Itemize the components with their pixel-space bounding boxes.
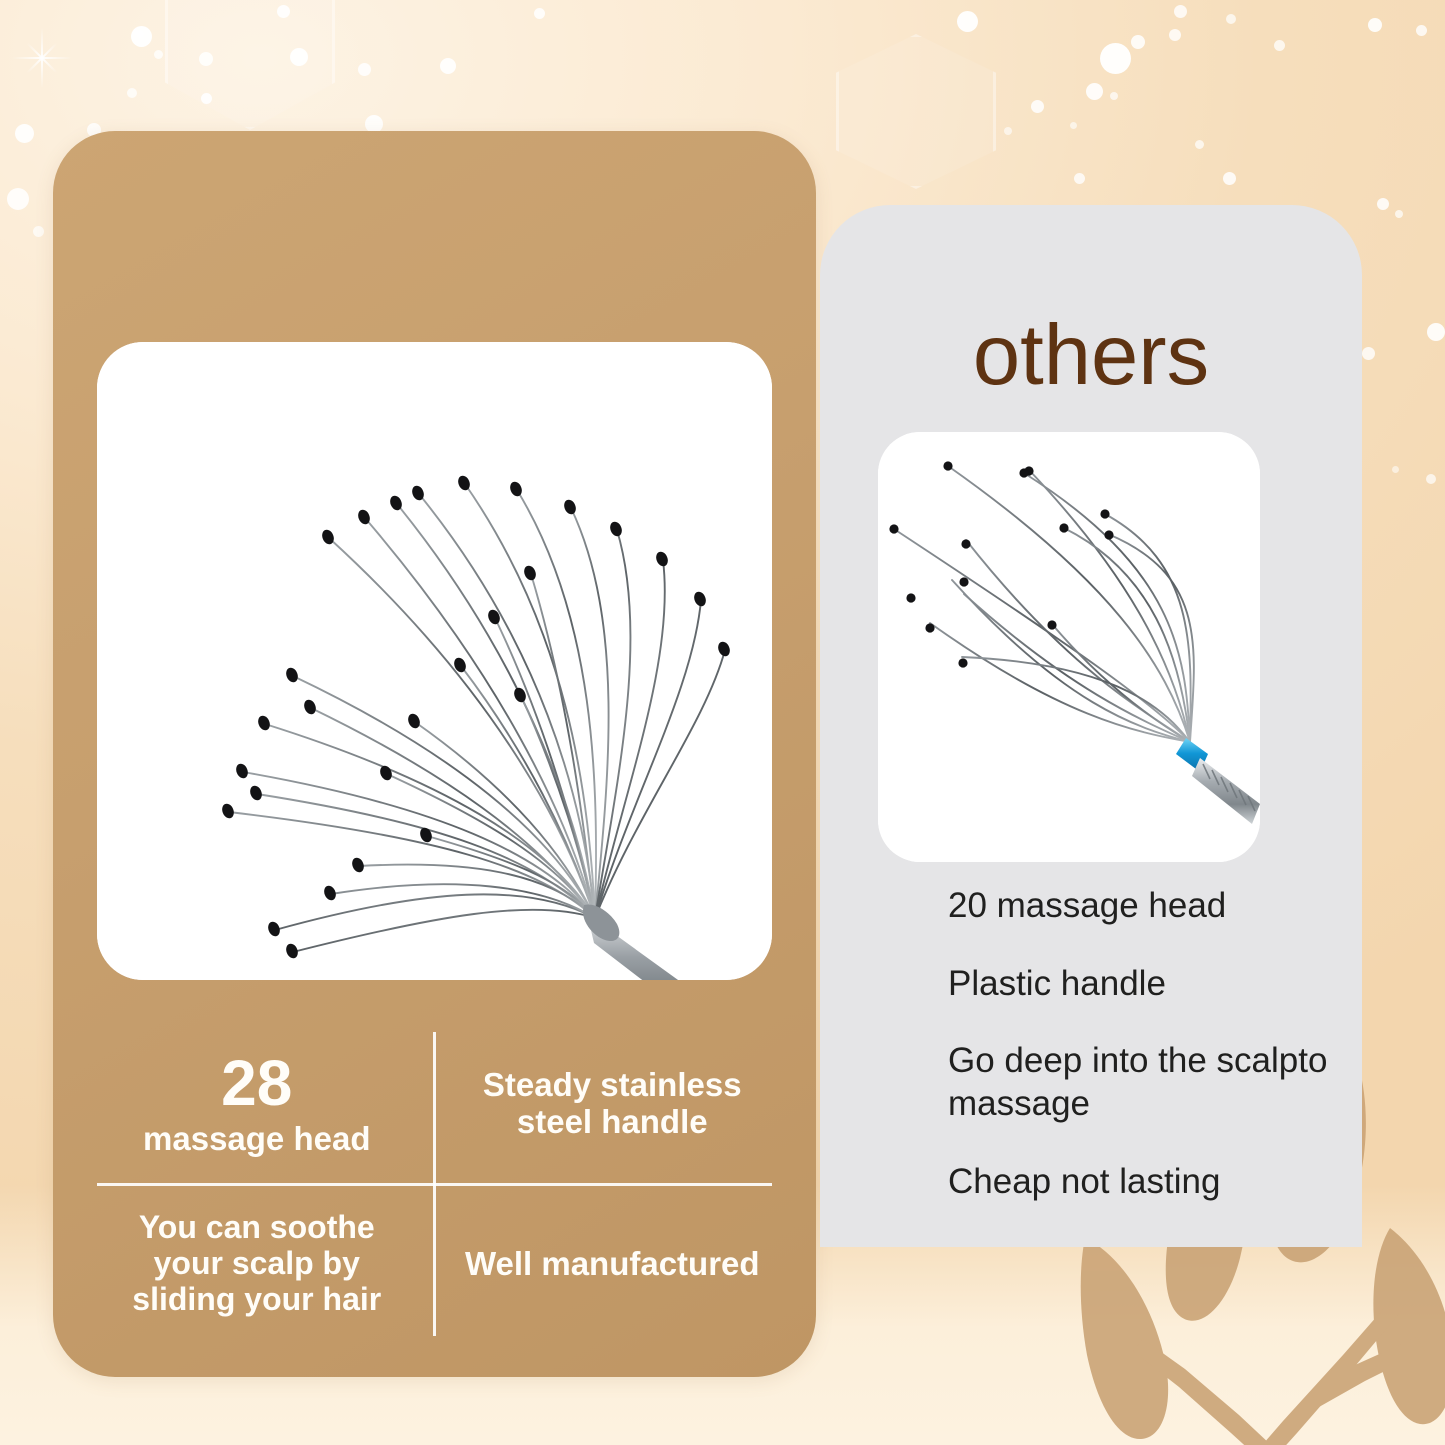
scalp-massager-20-head-illustration <box>878 432 1260 862</box>
ours-feature-4: Well manufactured <box>435 1184 791 1344</box>
ours-feature-1-number: 28 <box>221 1051 292 1115</box>
bokeh-dot <box>1074 173 1085 184</box>
ours-feature-3: You can soothe your scalp by sliding you… <box>79 1184 435 1344</box>
bokeh-dot <box>358 63 371 76</box>
bokeh-dot <box>1086 83 1103 100</box>
bokeh-dot <box>1392 466 1399 473</box>
bokeh-dot <box>440 58 456 74</box>
ours-product-image <box>97 342 772 980</box>
sparkle-icon <box>12 28 72 88</box>
scalp-massager-28-head-illustration <box>97 342 772 980</box>
bokeh-dot <box>7 188 29 210</box>
bokeh-dot <box>1226 14 1236 24</box>
others-comparison-panel: others <box>820 205 1362 1247</box>
bokeh-dot <box>1031 100 1044 113</box>
ours-feature-2-label: Steady stainless steel handle <box>459 1067 767 1141</box>
bokeh-dot <box>1110 92 1118 100</box>
bokeh-dot <box>1426 474 1436 484</box>
bokeh-dot <box>1169 29 1181 41</box>
bokeh-dot <box>1174 5 1187 18</box>
others-product-image <box>878 432 1260 862</box>
others-title: others <box>820 313 1362 398</box>
ours-feature-2: Steady stainless steel handle <box>435 1024 791 1184</box>
bokeh-dot <box>1274 40 1285 51</box>
bokeh-dot <box>277 5 290 18</box>
bokeh-dot <box>1368 18 1382 32</box>
ours-feature-1-label: massage head <box>143 1121 370 1158</box>
bokeh-dot <box>199 52 213 66</box>
bokeh-dot <box>1070 122 1077 129</box>
bokeh-dot <box>33 226 44 237</box>
ours-feature-grid: 28 massage head Steady stainless steel h… <box>79 1024 790 1344</box>
others-feature-2: Plastic handle <box>948 963 1338 1006</box>
ours-feature-1: 28 massage head <box>79 1024 435 1184</box>
bokeh-dot <box>534 8 545 19</box>
ours-feature-3-label: You can soothe your scalp by sliding you… <box>103 1210 411 1317</box>
bokeh-dot <box>133 29 139 35</box>
bokeh-dot <box>1416 25 1427 36</box>
others-feature-3: Go deep into the scalpto massage <box>948 1040 1338 1125</box>
ours-feature-4-label: Well manufactured <box>465 1246 760 1283</box>
bokeh-dot <box>1427 323 1445 341</box>
others-feature-list: 20 massage head Plastic handle Go deep i… <box>948 885 1338 1238</box>
bokeh-dot <box>127 88 137 98</box>
bokeh-dot <box>290 48 308 66</box>
ours-comparison-card: ours <box>53 131 816 1377</box>
bokeh-dot <box>154 50 163 59</box>
bokeh-dot <box>15 124 34 143</box>
bokeh-dot <box>1195 140 1204 149</box>
bokeh-dot <box>1004 127 1012 135</box>
bokeh-dot <box>1395 210 1403 218</box>
bokeh-dot <box>1100 43 1131 74</box>
others-feature-4: Cheap not lasting <box>948 1161 1338 1204</box>
bokeh-dot <box>1362 347 1375 360</box>
bokeh-dot <box>1377 198 1389 210</box>
others-feature-1: 20 massage head <box>948 885 1338 928</box>
bokeh-dot <box>1131 35 1145 49</box>
bokeh-dot <box>957 11 978 32</box>
bokeh-dot <box>1223 172 1236 185</box>
bokeh-dot <box>201 93 212 104</box>
